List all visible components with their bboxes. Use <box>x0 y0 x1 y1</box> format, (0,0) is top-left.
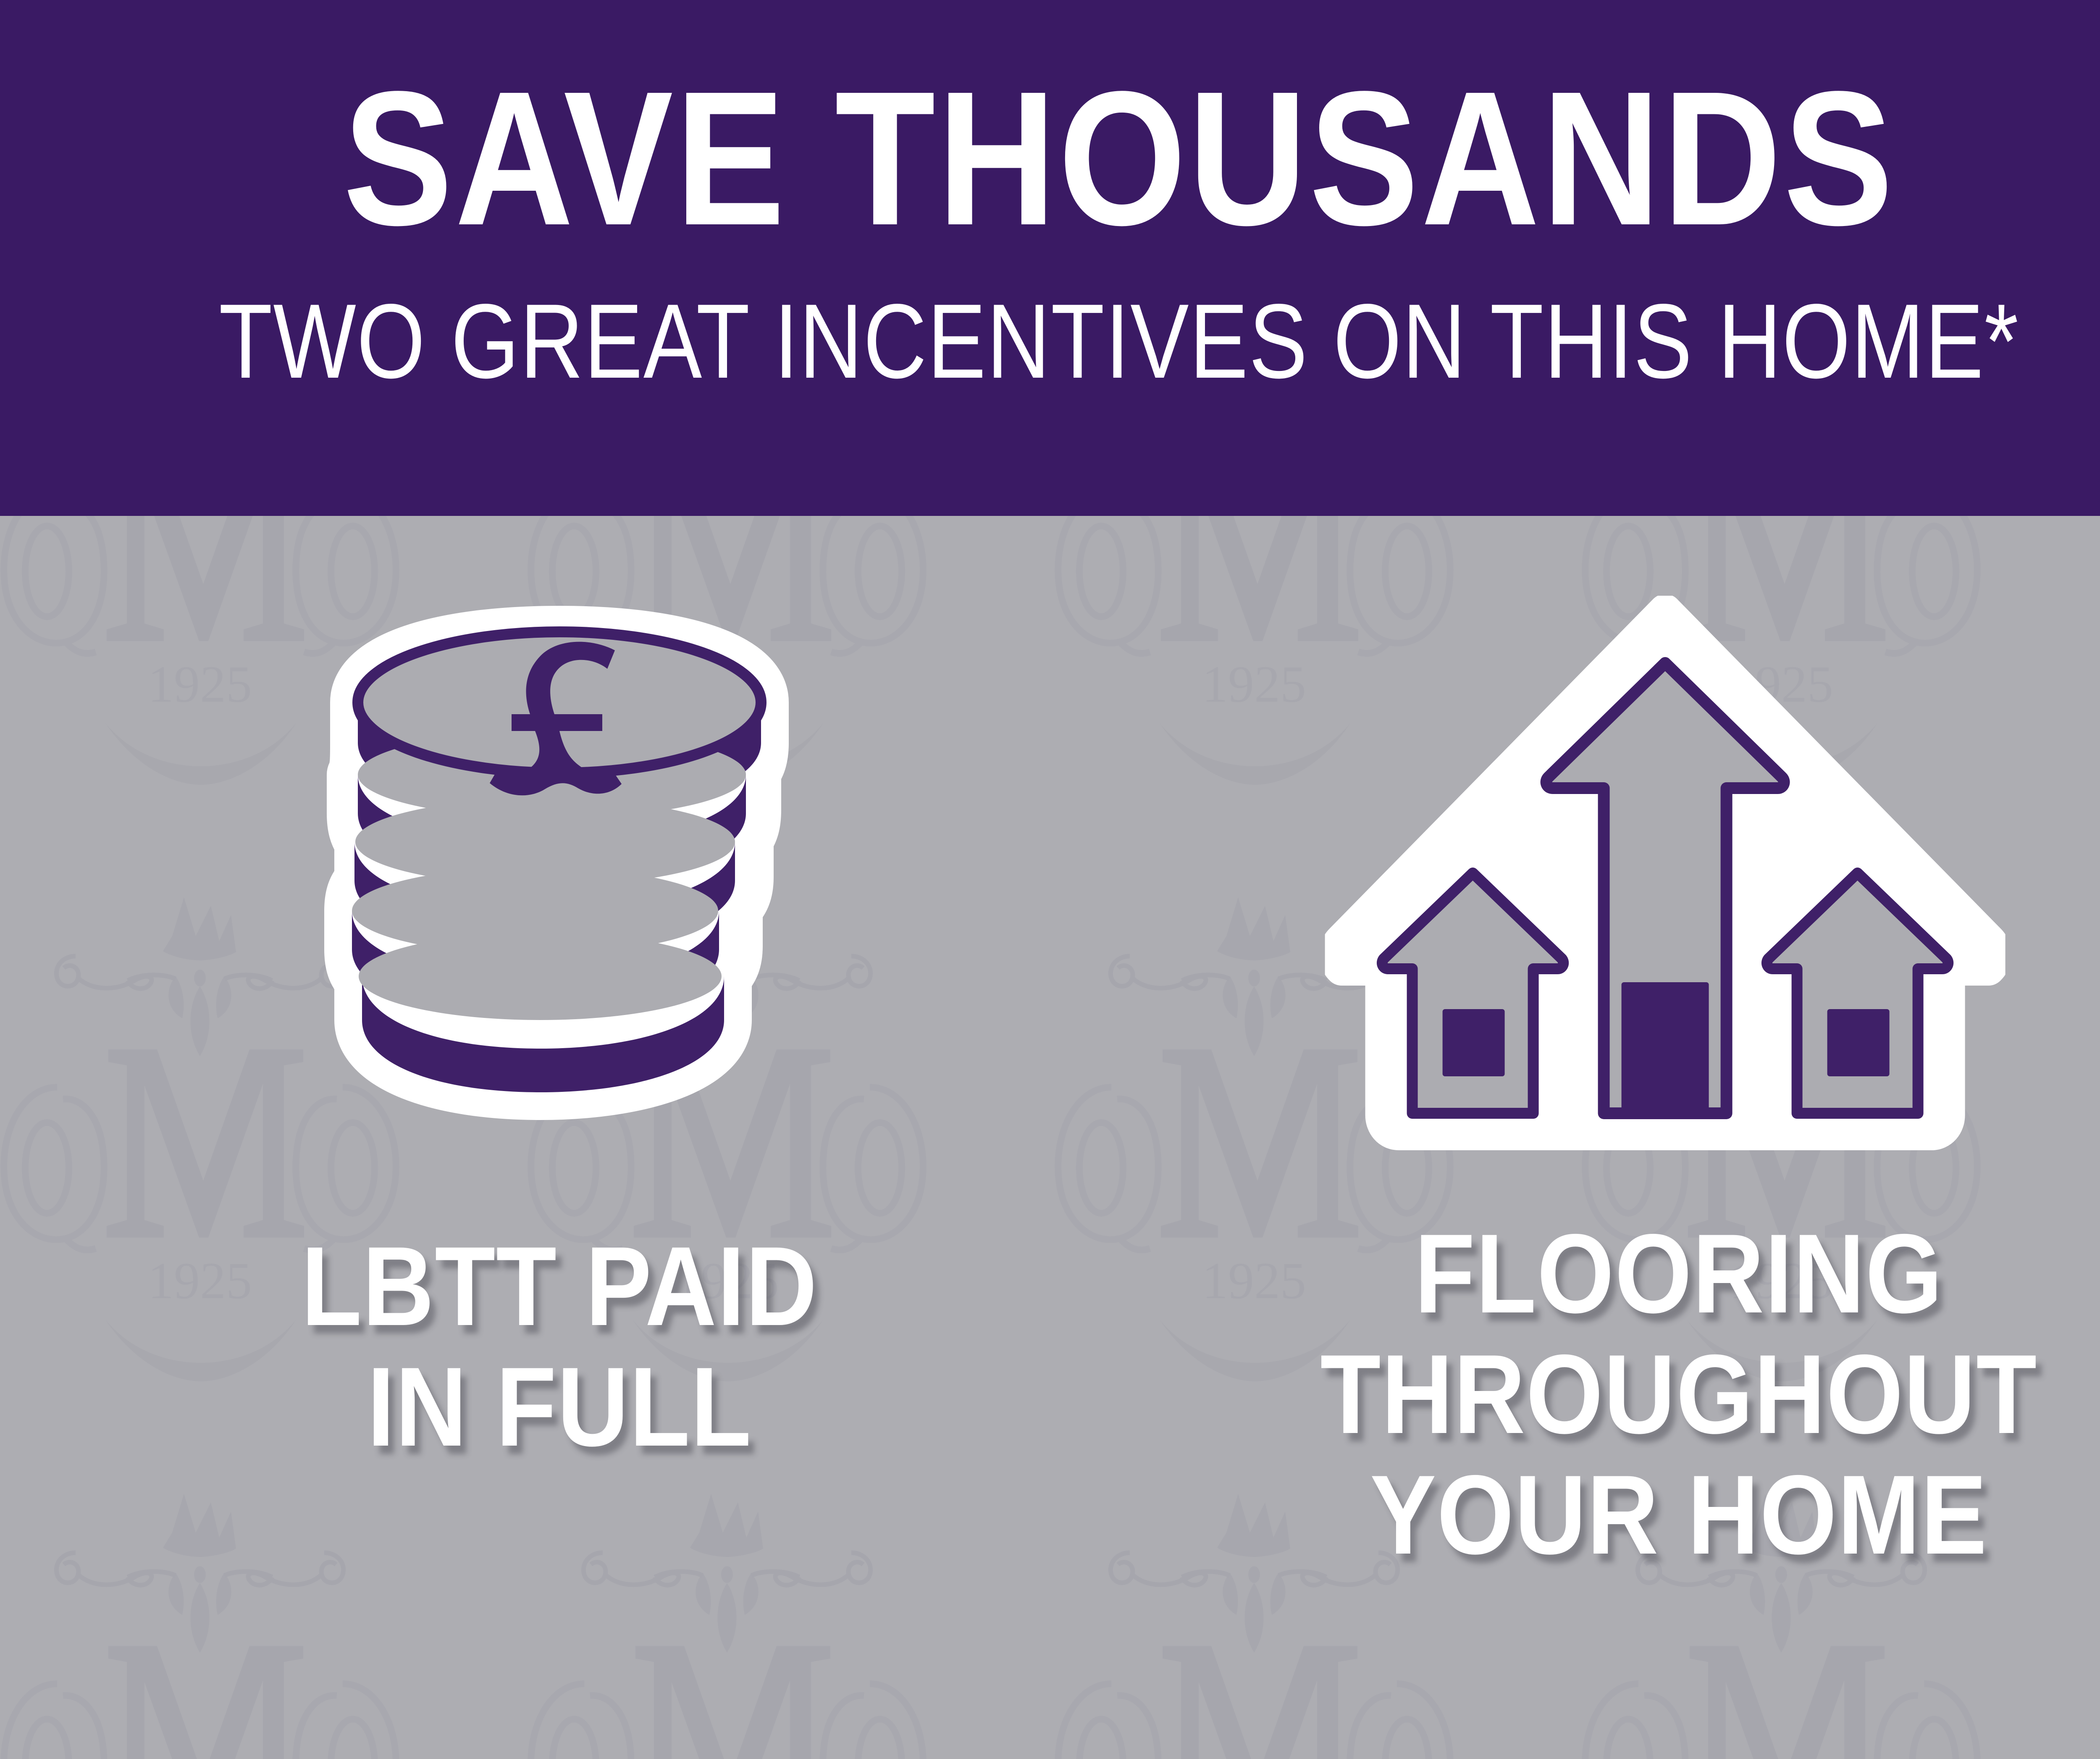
header-banner: SAVE THOUSANDS TWO GREAT INCENTIVES ON T… <box>0 0 2100 516</box>
page-title: SAVE THOUSANDS <box>343 63 1895 254</box>
page-subtitle: TWO GREAT INCENTIVES ON THIS HOME* <box>219 289 2019 394</box>
promotional-poster: SAVE THOUSANDS TWO GREAT INCENTIVES ON T… <box>0 0 2100 1759</box>
house-growth-arrows-icon <box>1325 596 2005 1159</box>
incentive-label-lbtt: LBTT PAID IN FULL <box>67 1226 1052 1467</box>
incentive-flooring: FLOORING THROUGHOUT YOUR HOME <box>1119 516 2100 1759</box>
incentives-row: LBTT PAID IN FULL FLOORING <box>0 516 2100 1759</box>
body-area: 1925 <box>0 516 2100 1759</box>
incentive-label-flooring: FLOORING THROUGHOUT YOUR HOME <box>1186 1213 2100 1575</box>
coin-stack-pound-icon <box>278 600 841 1146</box>
incentive-lbtt: LBTT PAID IN FULL <box>0 516 1119 1759</box>
